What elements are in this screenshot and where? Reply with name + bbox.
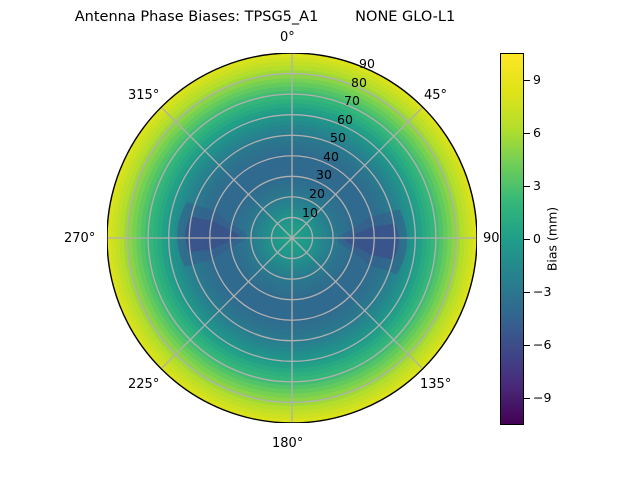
radial-tick-50: 50 [330,131,346,144]
colorbar[interactable]: 9630−3−6−9 [500,53,524,425]
colorbar-tick-label: −9 [533,391,551,404]
colorbar-gradient [500,53,524,425]
radial-tick-20: 20 [309,187,325,200]
angular-tick-0: 0° [280,31,295,45]
colorbar-tick-label: 3 [533,179,541,192]
radial-tick-30: 30 [316,168,332,181]
colorbar-axis-label: Bias (mm) [545,207,560,271]
polar-gridlines [107,53,477,423]
colorbar-tick-mark [524,239,530,240]
radial-tick-60: 60 [337,113,353,126]
radial-tick-80: 80 [351,76,367,89]
polar-axes[interactable] [107,53,477,423]
colorbar-tick-label: 9 [533,73,541,86]
radial-tick-90: 90 [359,57,375,70]
colorbar-tick-mark [524,398,530,399]
colorbar-tick-mark [524,80,530,81]
colorbar-tick-label: 0 [533,232,541,245]
radial-tick-10: 10 [302,206,318,219]
angular-tick-45: 45° [424,89,447,103]
angular-tick-180: 180° [272,437,303,451]
angular-tick-90: 90 [483,232,500,246]
colorbar-tick-mark [524,292,530,293]
colorbar-tick-label: −3 [533,285,551,298]
colorbar-tick-mark [524,345,530,346]
angular-tick-225: 225° [128,378,159,392]
angular-tick-315: 315° [128,89,159,103]
figure-canvas: Antenna Phase Biases: TPSG5_A1 NONE GLO-… [0,0,640,480]
colorbar-tick-label: −6 [533,338,551,351]
page-title: Antenna Phase Biases: TPSG5_A1 NONE GLO-… [0,8,530,26]
colorbar-tick-mark [524,133,530,134]
colorbar-tick-mark [524,186,530,187]
colorbar-tick-label: 6 [533,126,541,139]
angular-tick-270: 270° [64,232,95,246]
radial-tick-40: 40 [323,150,339,163]
angular-tick-135: 135° [420,378,451,392]
polar-contour-plot [107,53,477,423]
radial-tick-70: 70 [344,94,360,107]
